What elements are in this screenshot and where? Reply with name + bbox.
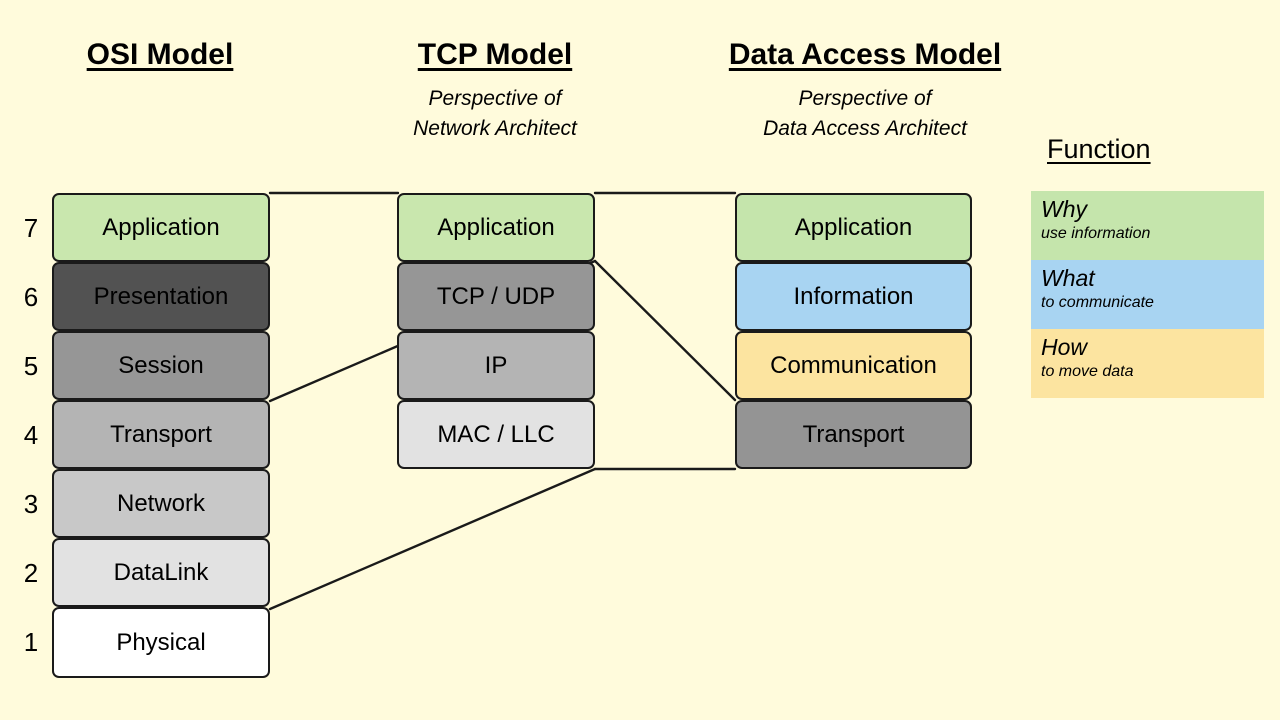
legend-item-how-title: How [1041, 335, 1264, 360]
osi-layer-number-1: 1 [14, 629, 48, 655]
osi-layer-network[interactable]: Network [52, 469, 270, 538]
tcp-layer-tcp-udp[interactable]: TCP / UDP [397, 262, 595, 331]
legend-item-why[interactable]: Why use information [1031, 191, 1264, 260]
tcp-layer-mac-llc[interactable]: MAC / LLC [397, 400, 595, 469]
connector-tcp-diagonal [595, 261, 735, 400]
diagram-canvas: OSI Model TCP Model Perspective of Netwo… [0, 0, 1280, 720]
osi-layer-transport[interactable]: Transport [52, 400, 270, 469]
legend-item-how-subtitle: to move data [1041, 362, 1264, 382]
subtitle-data-access: Perspective of Data Access Architect [700, 84, 1030, 145]
legend-item-how[interactable]: How to move data [1031, 329, 1264, 398]
osi-layer-physical[interactable]: Physical [52, 607, 270, 678]
legend-item-why-subtitle: use information [1041, 224, 1264, 244]
osi-layer-number-2: 2 [14, 560, 48, 586]
dam-layer-transport[interactable]: Transport [735, 400, 972, 469]
legend-item-what-title: What [1041, 266, 1264, 291]
page-title-tcp: TCP Model [345, 40, 645, 70]
osi-layer-number-4: 4 [14, 422, 48, 448]
tcp-layer-ip[interactable]: IP [397, 331, 595, 400]
legend-item-what-subtitle: to communicate [1041, 293, 1264, 313]
osi-layer-application[interactable]: Application [52, 193, 270, 262]
osi-layer-datalink[interactable]: DataLink [52, 538, 270, 607]
osi-layer-number-7: 7 [14, 215, 48, 241]
osi-layer-number-5: 5 [14, 353, 48, 379]
legend-item-what[interactable]: What to communicate [1031, 260, 1264, 329]
subtitle-tcp-line2: Network Architect [345, 114, 645, 144]
osi-layer-session[interactable]: Session [52, 331, 270, 400]
dam-layer-application[interactable]: Application [735, 193, 972, 262]
osi-layer-number-6: 6 [14, 284, 48, 310]
page-title-osi: OSI Model [10, 40, 310, 70]
dam-layer-communication[interactable]: Communication [735, 331, 972, 400]
dam-layer-information[interactable]: Information [735, 262, 972, 331]
legend-title: Function [1047, 136, 1151, 163]
legend-item-why-title: Why [1041, 197, 1264, 222]
subtitle-dam-line2: Data Access Architect [700, 114, 1030, 144]
subtitle-tcp-line1: Perspective of [345, 84, 645, 114]
tcp-layer-application[interactable]: Application [397, 193, 595, 262]
connector-osi-lower-diagonal [270, 469, 595, 609]
osi-layer-presentation[interactable]: Presentation [52, 262, 270, 331]
subtitle-dam-line1: Perspective of [700, 84, 1030, 114]
subtitle-tcp: Perspective of Network Architect [345, 84, 645, 145]
osi-layer-number-3: 3 [14, 491, 48, 517]
page-title-data-access: Data Access Model [700, 40, 1030, 70]
